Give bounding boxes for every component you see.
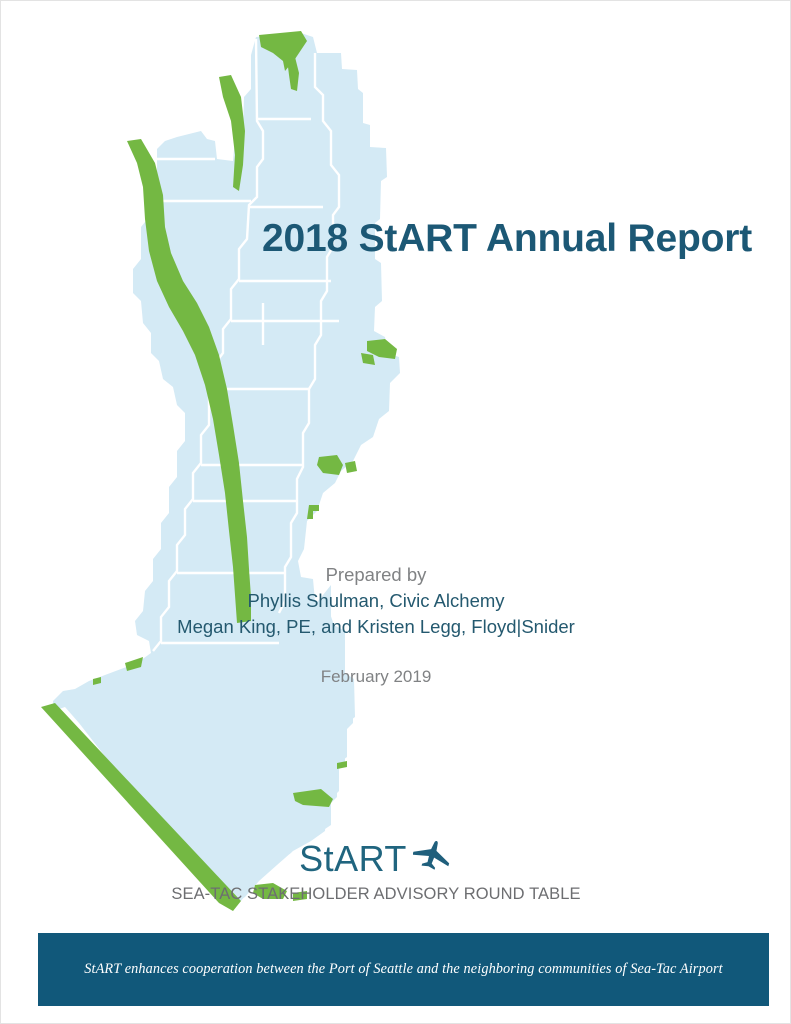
report-date: February 2019 (126, 665, 626, 689)
map-landmass (53, 33, 400, 907)
prepared-by-label: Prepared by (126, 562, 626, 588)
author-line-1: Phyllis Shulman, Civic Alchemy (126, 588, 626, 614)
map-shoreline-accents (41, 31, 397, 911)
byline-block: Prepared by Phyllis Shulman, Civic Alche… (1, 562, 776, 689)
footer-tagline: StART enhances cooperation between the P… (84, 961, 722, 978)
start-logo-mark: StART (299, 841, 453, 877)
map-city-boundaries (149, 39, 339, 651)
start-wordmark: StART (299, 841, 407, 877)
airplane-icon (413, 838, 453, 872)
author-line-2: Megan King, PE, and Kristen Legg, Floyd|… (126, 614, 626, 640)
start-logo-block: StART SEA-TAC STAKEHOLDER ADVISORY ROUND… (1, 841, 776, 904)
page-title: 2018 StART Annual Report (1, 217, 776, 261)
map-region-fill (53, 33, 400, 907)
footer-banner: StART enhances cooperation between the P… (38, 933, 769, 1006)
report-cover-page: 2018 StART Annual Report Prepared by Phy… (0, 0, 791, 1024)
start-logo-tagline: SEA-TAC STAKEHOLDER ADVISORY ROUND TABLE (126, 885, 626, 904)
